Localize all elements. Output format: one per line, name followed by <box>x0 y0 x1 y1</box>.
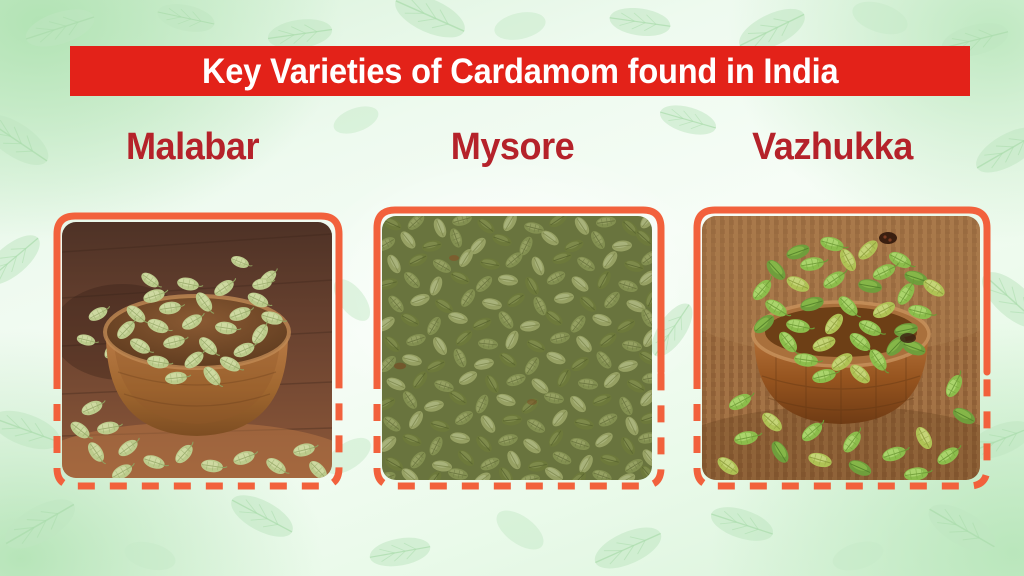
page-title: Key Varieties of Cardamom found in India <box>202 54 838 89</box>
mysore-cardamom-photo <box>382 216 652 480</box>
vazhukka-cardamom-photo <box>702 216 980 480</box>
title-banner: Key Varieties of Cardamom found in India <box>70 46 970 96</box>
variety-label-vazhukka: Vazhukka <box>688 128 978 166</box>
variety-label-malabar: Malabar <box>48 128 338 166</box>
malabar-cardamom-photo <box>62 222 332 478</box>
varieties-row: Malabar <box>0 128 1024 500</box>
variety-label-mysore: Mysore <box>368 128 658 166</box>
